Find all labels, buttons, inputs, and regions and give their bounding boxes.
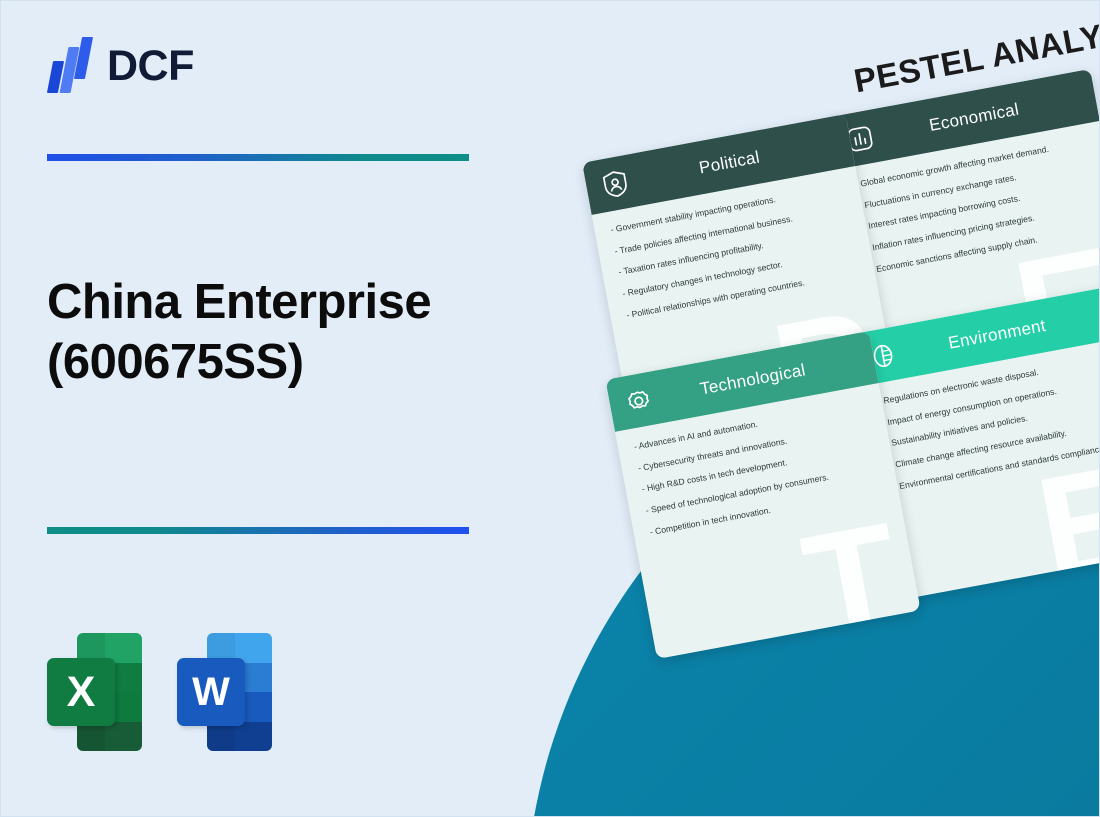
pestel-graphic: PESTEL ANALYSIS Political P - Government… — [561, 1, 1100, 817]
download-format-row: X W — [47, 633, 272, 751]
divider-top — [47, 154, 469, 161]
card-watermark-technological: T — [794, 499, 911, 659]
pestel-card-technological[interactable]: Technological T - Advances in AI and aut… — [605, 331, 920, 659]
excel-badge-letter: X — [47, 658, 115, 726]
logo-wordmark: DCF — [107, 45, 194, 88]
presentation-slide: DCF China Enterprise (600675SS) X W — [0, 0, 1100, 817]
left-content-column: DCF China Enterprise (600675SS) X W — [1, 1, 531, 817]
word-icon[interactable]: W — [177, 633, 272, 751]
dcf-logo[interactable]: DCF — [47, 35, 194, 97]
dcf-bars-logo-icon — [47, 35, 95, 97]
card-body-technological: T - Advances in AI and automation. - Cyb… — [615, 383, 921, 659]
word-badge-letter: W — [177, 658, 245, 726]
page-title: China Enterprise (600675SS) — [47, 273, 517, 393]
excel-icon[interactable]: X — [47, 633, 142, 751]
divider-bottom — [47, 527, 469, 534]
